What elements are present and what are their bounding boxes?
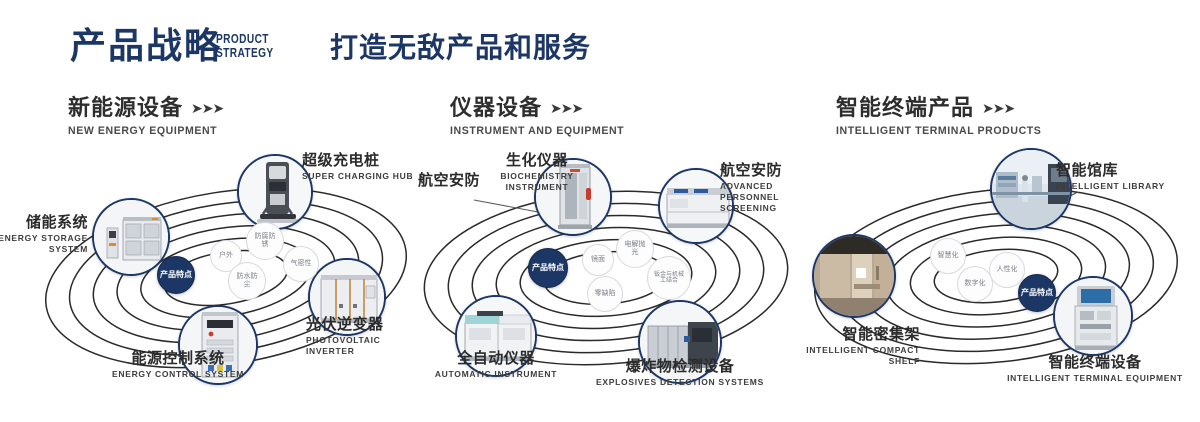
label-cn: 全自动仪器 <box>410 350 582 367</box>
feature-bubble-text: 户外 <box>219 252 233 260</box>
label-aviation-security-left: 航空安防 <box>418 172 480 189</box>
feature-bubble-text: 产品特点 <box>532 264 564 273</box>
feature-bubble-text: 产品特点 <box>160 271 192 280</box>
node-intelligent-terminal-equipment[interactable] <box>1053 276 1133 356</box>
label-cn: 生化仪器 <box>476 152 598 169</box>
feature-bubble: 电解抛光 <box>616 230 654 268</box>
label-intelligent-terminal-equipment: 智能终端设备 INTELLIGENT TERMINAL EQUIPMENT <box>1005 354 1185 384</box>
node-intelligent-compact-shelf[interactable] <box>812 234 896 318</box>
label-en: ENERGY STORAGE SYSTEM <box>0 233 88 254</box>
label-intelligent-library: 智能馆库 INTELLIGENT LIBRARY <box>1056 162 1165 192</box>
label-en: INTELLIGENT COMPACT SHELF <box>772 345 920 366</box>
label-cn: 超级充电桩 <box>302 152 413 169</box>
label-en: INTELLIGENT LIBRARY <box>1056 181 1165 192</box>
label-biochemistry-instrument: 生化仪器 BIOCHEMISTRY INSTRUMENT <box>476 152 598 193</box>
feature-bubble-text: 镜面 <box>591 256 605 264</box>
label-explosives-detection-systems: 爆炸物检测设备 EXPLOSIVES DETECTION SYSTEMS <box>592 358 768 388</box>
feature-bubble-core: 产品特点 <box>157 256 195 294</box>
brand-subtitle-line1: PRODUCT <box>216 32 274 46</box>
section-heading-en: INTELLIGENT TERMINAL PRODUCTS <box>836 125 1041 137</box>
feature-bubble-text: 人性化 <box>997 266 1018 274</box>
label-super-charging-hub: 超级充电桩 SUPER CHARGING HUB <box>302 152 413 182</box>
feature-bubble-core: 产品特点 <box>528 248 568 288</box>
feature-bubble: 镜面 <box>582 244 614 276</box>
label-en: ENERGY CONTROL SYSTEM <box>78 369 278 380</box>
charging-pile-icon <box>239 156 311 228</box>
cluster-new-energy: 产品特点 户外 防腐防锈 防水防尘 气密性 储能系统 ENERGY STORAG… <box>30 150 430 410</box>
brand-title: 产品战略 <box>70 28 222 64</box>
feature-bubble: 零缺陷 <box>587 276 623 312</box>
feature-bubble-text: 气密性 <box>288 260 314 268</box>
feature-bubble-text: 钣金与机械工结合 <box>653 272 685 285</box>
chevron-right-icon: ➤➤➤ <box>550 100 582 117</box>
label-en: BIOCHEMISTRY INSTRUMENT <box>476 171 598 192</box>
feature-bubble: 气密性 <box>283 246 319 282</box>
label-cn: 爆炸物检测设备 <box>592 358 768 375</box>
energy-storage-cabinet-icon <box>94 200 168 274</box>
section-heading-cn: 新能源设备 <box>68 96 183 120</box>
cluster-intelligent-terminal: 智慧化 数字化 人性化 产品特点 智能馆库 INTELLIGENT LIBRAR… <box>800 150 1200 410</box>
self-service-kiosk-icon <box>1055 278 1131 354</box>
label-cn: 智能馆库 <box>1056 162 1165 179</box>
section-heading-instrument: 仪器设备➤➤➤ INSTRUMENT AND EQUIPMENT <box>450 96 631 137</box>
label-energy-storage-system: 储能系统 ENERGY STORAGE SYSTEM <box>0 214 88 255</box>
label-automatic-instrument: 全自动仪器 AUTOMATIC INSTRUMENT <box>410 350 582 380</box>
section-heading-cn: 仪器设备 <box>450 96 542 120</box>
feature-bubble-core: 产品特点 <box>1018 274 1056 312</box>
brand-subtitle: PRODUCT STRATEGY <box>216 32 274 59</box>
headline: 打造无敌产品和服务 <box>330 34 591 62</box>
feature-bubble: 智慧化 <box>930 238 966 274</box>
feature-bubble-text: 零缺陷 <box>595 290 616 298</box>
chevron-right-icon: ➤➤➤ <box>191 100 223 117</box>
section-heading-new-energy: 新能源设备➤➤➤ NEW ENERGY EQUIPMENT <box>68 96 223 137</box>
brand-subtitle-line2: STRATEGY <box>216 46 274 60</box>
feature-bubble-text: 防水防尘 <box>235 273 259 288</box>
feature-bubble-text: 数字化 <box>965 280 986 288</box>
compact-shelf-icon <box>814 236 894 316</box>
label-en: AUTOMATIC INSTRUMENT <box>410 369 582 380</box>
cluster-instrument: 产品特点 镜面 电解抛光 零缺陷 钣金与机械工结合 航空安防 生化仪器 BIOC… <box>410 150 810 410</box>
feature-bubble-text: 智慧化 <box>938 252 959 260</box>
section-heading-en: INSTRUMENT AND EQUIPMENT <box>450 125 624 137</box>
label-energy-control-system: 能源控制系统 ENERGY CONTROL SYSTEM <box>78 350 278 380</box>
section-heading-intelligent: 智能终端产品➤➤➤ INTELLIGENT TERMINAL PRODUCTS <box>836 96 1050 137</box>
label-cn: 智能终端设备 <box>1005 354 1185 371</box>
feature-bubble-text: 电解抛光 <box>623 241 647 256</box>
page-header: 产品战略 PRODUCT STRATEGY 打造无敌产品和服务 <box>0 0 1200 86</box>
feature-bubble: 防水防尘 <box>228 262 266 300</box>
label-cn: 智能密集架 <box>772 326 920 343</box>
label-cn: 能源控制系统 <box>78 350 278 367</box>
label-en: EXPLOSIVES DETECTION SYSTEMS <box>592 377 768 388</box>
node-energy-storage-system[interactable] <box>92 198 170 276</box>
section-heading-cn: 智能终端产品 <box>836 96 974 120</box>
label-cn: 储能系统 <box>0 214 88 231</box>
label-intelligent-compact-shelf: 智能密集架 INTELLIGENT COMPACT SHELF <box>772 326 920 367</box>
feature-bubble-text: 产品特点 <box>1021 289 1053 298</box>
section-heading-en: NEW ENERGY EQUIPMENT <box>68 125 217 137</box>
feature-bubble: 防腐防锈 <box>246 222 284 260</box>
label-en: INTELLIGENT TERMINAL EQUIPMENT <box>1005 373 1185 384</box>
feature-bubble-text: 防腐防锈 <box>253 233 277 248</box>
chevron-right-icon: ➤➤➤ <box>982 100 1014 117</box>
label-en: SUPER CHARGING HUB <box>302 171 413 182</box>
feature-bubble: 钣金与机械工结合 <box>647 256 691 300</box>
label-cn: 航空安防 <box>418 172 480 189</box>
feature-bubble: 数字化 <box>957 266 993 302</box>
